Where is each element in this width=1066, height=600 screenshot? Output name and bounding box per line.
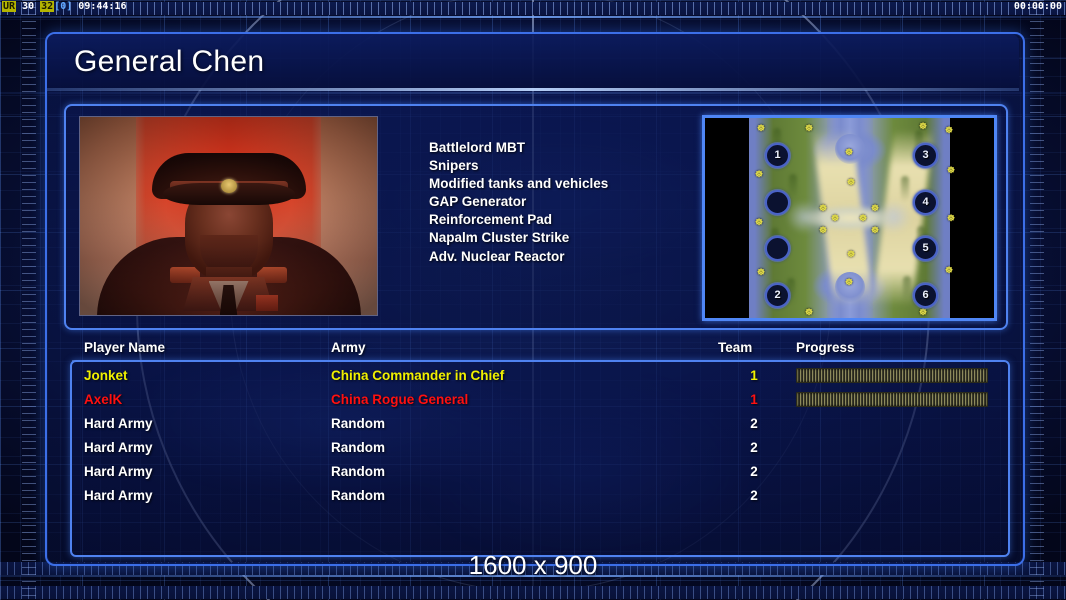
cell-team: 2: [743, 436, 765, 460]
cell-army: Random: [331, 436, 385, 460]
column-header-army: Army: [331, 340, 366, 355]
map-foliage: [789, 174, 797, 200]
map-foliage: [903, 276, 911, 302]
map-start-position-marker: 5: [913, 236, 938, 261]
ruler-vertical-left: [22, 0, 36, 600]
ability-item: GAP Generator: [429, 193, 679, 211]
cell-team: 1: [743, 388, 765, 412]
progress-bar: [796, 368, 988, 383]
map-start-position-marker: 1: [765, 143, 790, 168]
map-oil-derrick-icon: ☸: [871, 226, 879, 235]
table-header-row: Player Name Army Team Progress: [84, 340, 994, 360]
map-oil-derrick-icon: ☸: [919, 122, 927, 131]
divider-rule-top: [0, 16, 1066, 18]
cell-army: Random: [331, 460, 385, 484]
table-row[interactable]: Hard ArmyRandom2: [84, 412, 994, 436]
map-start-position-marker: 4: [913, 190, 938, 215]
hud-num1: 30: [22, 1, 34, 12]
column-header-progress: Progress: [796, 340, 855, 355]
map-image: ☸☸☸☸☸☸☸☸☸☸☸☸☸☸☸☸☸☸☸☸☸☸ 123456: [705, 118, 994, 318]
general-portrait-image: [79, 116, 378, 316]
column-header-player-name: Player Name: [84, 340, 165, 355]
cell-team: 1: [743, 364, 765, 388]
hud-num2: 32: [40, 1, 54, 12]
map-oil-derrick-icon: ☸: [805, 124, 813, 133]
map-oil-derrick-icon: ☸: [805, 308, 813, 317]
map-preview: ☸☸☸☸☸☸☸☸☸☸☸☸☸☸☸☸☸☸☸☸☸☸ 123456: [702, 115, 997, 321]
cell-player-name: Hard Army: [84, 484, 153, 508]
table-row[interactable]: Hard ArmyRandom2: [84, 460, 994, 484]
map-oil-derrick-icon: ☸: [945, 266, 953, 275]
progress-bar: [796, 392, 988, 407]
map-start-position-marker: 6: [913, 283, 938, 308]
map-oil-derrick-icon: ☸: [859, 214, 867, 223]
map-oil-derrick-icon: ☸: [919, 308, 927, 317]
table-row[interactable]: AxelKChina Rogue General1: [84, 388, 994, 412]
table-row[interactable]: Hard ArmyRandom2: [84, 436, 994, 460]
ability-item: Battlelord MBT: [429, 139, 679, 157]
game-screen: UR 30 32[0] 09:44:16 00:00:00 General Ch…: [0, 0, 1066, 600]
map-oil-derrick-icon: ☸: [755, 218, 763, 227]
ruler-strip-top: [0, 2, 1066, 15]
ability-item: Modified tanks and vehicles: [429, 175, 679, 193]
player-list: JonketChina Commander in Chief1AxelKChin…: [84, 364, 994, 508]
page-title: General Chen: [74, 45, 264, 79]
map-oil-derrick-icon: ☸: [947, 214, 955, 223]
map-oil-derrick-icon: ☸: [757, 268, 765, 277]
map-oil-derrick-icon: ☸: [819, 226, 827, 235]
cell-army: China Rogue General: [331, 388, 468, 412]
cell-army: Random: [331, 484, 385, 508]
hud-prefix: UR: [2, 1, 16, 12]
map-start-position-marker: 3: [913, 143, 938, 168]
cell-team: 2: [743, 412, 765, 436]
map-oil-derrick-icon: ☸: [847, 250, 855, 259]
table-row[interactable]: Hard ArmyRandom2: [84, 484, 994, 508]
map-oil-derrick-icon: ☸: [871, 204, 879, 213]
map-oil-derrick-icon: ☸: [845, 148, 853, 157]
map-center-crossing: [790, 201, 910, 235]
network-stats-overlay: UR 30 32[0] 09:44:16: [2, 1, 126, 13]
cell-player-name: Jonket: [84, 364, 128, 388]
title-underline: [47, 88, 1019, 91]
match-timer: 00:00:00: [1014, 1, 1062, 13]
cell-player-name: Hard Army: [84, 460, 153, 484]
map-foliage: [901, 176, 909, 202]
table-row[interactable]: JonketChina Commander in Chief1: [84, 364, 994, 388]
map-oil-derrick-icon: ☸: [831, 214, 839, 223]
cell-team: 2: [743, 484, 765, 508]
map-start-position-marker: [765, 236, 790, 261]
cell-player-name: Hard Army: [84, 412, 153, 436]
ability-item: Adv. Nuclear Reactor: [429, 248, 679, 266]
cell-army: China Commander in Chief: [331, 364, 504, 388]
general-abilities-list: Battlelord MBT Snipers Modified tanks an…: [429, 139, 679, 266]
map-oil-derrick-icon: ☸: [757, 124, 765, 133]
map-oil-derrick-icon: ☸: [945, 126, 953, 135]
column-header-team: Team: [718, 340, 752, 355]
map-start-position-marker: 2: [765, 283, 790, 308]
map-oil-derrick-icon: ☸: [819, 204, 827, 213]
resolution-label: 1600 x 900: [0, 550, 1066, 581]
ability-item: Reinforcement Pad: [429, 211, 679, 229]
map-oil-derrick-icon: ☸: [947, 166, 955, 175]
ability-item: Napalm Cluster Strike: [429, 229, 679, 247]
map-start-position-marker: [765, 190, 790, 215]
hud-clock: 09:44:16: [78, 1, 126, 12]
portrait-vignette: [80, 117, 377, 315]
ruler-strip-footer: [0, 586, 1066, 599]
cell-team: 2: [743, 460, 765, 484]
hud-bracket: [0]: [54, 1, 72, 12]
map-oil-derrick-icon: ☸: [845, 278, 853, 287]
cell-player-name: AxelK: [84, 388, 122, 412]
cell-army: Random: [331, 412, 385, 436]
map-oil-derrick-icon: ☸: [755, 170, 763, 179]
ruler-vertical-right: [1030, 0, 1044, 600]
ability-item: Snipers: [429, 157, 679, 175]
cell-player-name: Hard Army: [84, 436, 153, 460]
map-oil-derrick-icon: ☸: [847, 178, 855, 187]
